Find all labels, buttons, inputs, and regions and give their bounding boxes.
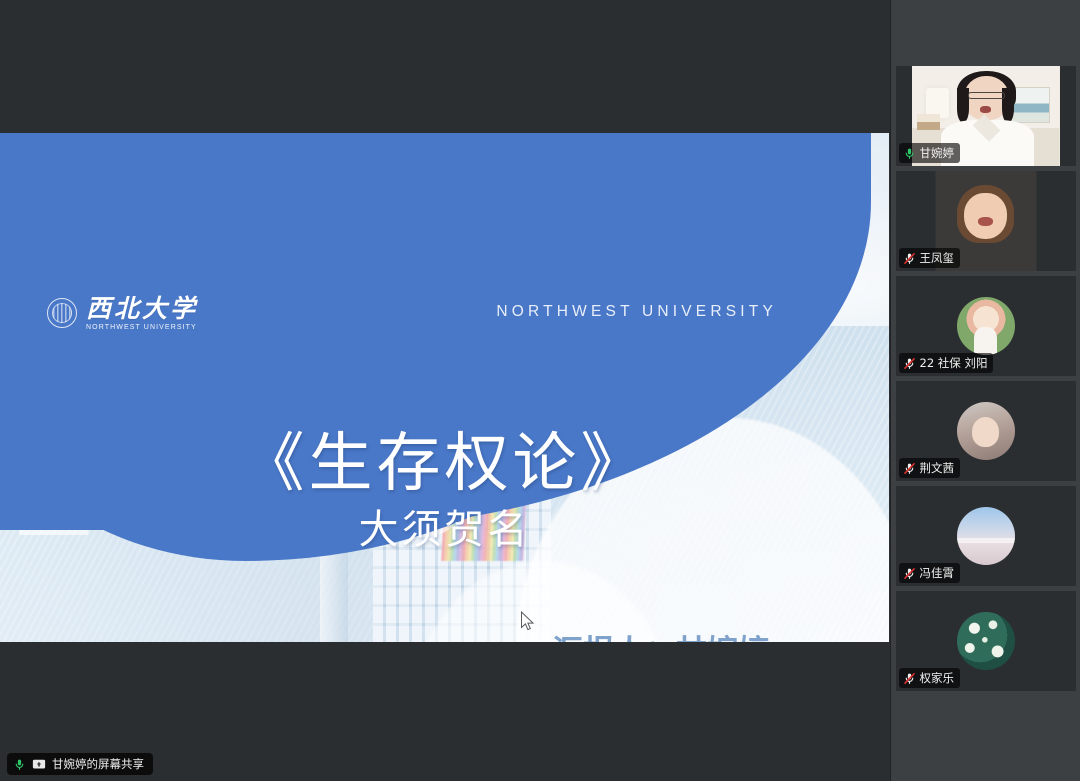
- microphone-muted-icon: [903, 567, 916, 580]
- participant-tile[interactable]: 荆文茜: [896, 381, 1076, 481]
- participant-nameplate: 冯佳霄: [899, 563, 961, 583]
- university-name-en: NORTHWEST UNIVERSITY: [86, 324, 198, 331]
- participant-sidebar[interactable]: 甘婉婷 王凤玺: [890, 0, 1080, 781]
- avatar: [957, 507, 1015, 565]
- slide-presenter-block: 汇报人：甘婉婷 专业：社会保障: [552, 630, 769, 642]
- participant-name: 甘婉婷: [920, 145, 955, 161]
- screen-share-status-bar[interactable]: 甘婉婷的屏幕共享: [7, 753, 153, 775]
- slide-header-english: NORTHWEST UNIVERSITY: [496, 303, 777, 321]
- screen-share-icon: [32, 758, 46, 771]
- university-name-cn: 西北大学: [86, 296, 198, 322]
- avatar: [957, 402, 1015, 460]
- participant-name: 22 社保 刘阳: [920, 355, 988, 371]
- participant-name: 冯佳霄: [920, 565, 955, 581]
- slide-subtitle: 大须贺名: [0, 497, 889, 555]
- participant-nameplate: 甘婉婷: [899, 143, 961, 163]
- microphone-muted-icon: [903, 672, 916, 685]
- microphone-muted-icon: [903, 357, 916, 370]
- slide-title: 《生存权论》: [0, 412, 889, 504]
- screen-share-label: 甘婉婷的屏幕共享: [52, 756, 144, 772]
- microphone-muted-icon: [903, 252, 916, 265]
- participant-tile[interactable]: 22 社保 刘阳: [896, 276, 1076, 376]
- participant-nameplate: 王凤玺: [899, 248, 961, 268]
- participant-name: 权家乐: [920, 670, 955, 686]
- participant-nameplate: 权家乐: [899, 668, 961, 688]
- slide-presenter-name: 汇报人：甘婉婷: [552, 630, 769, 642]
- participant-tile[interactable]: 甘婉婷: [896, 66, 1076, 166]
- participant-tile[interactable]: 冯佳霄: [896, 486, 1076, 586]
- microphone-on-icon: [903, 147, 916, 160]
- university-seal-icon: [47, 298, 77, 328]
- participant-nameplate: 荆文茜: [899, 458, 961, 478]
- shared-screen-stage: 2023 西北大学 NORTHWEST UNIVERSITY NORTHWEST…: [0, 0, 890, 781]
- participant-name: 荆文茜: [920, 460, 955, 476]
- university-logo-text: 西北大学 NORTHWEST UNIVERSITY: [86, 296, 198, 331]
- university-logo: 西北大学 NORTHWEST UNIVERSITY: [47, 296, 198, 331]
- avatar: [957, 297, 1015, 355]
- participant-name: 王凤玺: [920, 250, 955, 266]
- participant-nameplate: 22 社保 刘阳: [899, 353, 994, 373]
- microphone-on-icon: [13, 758, 26, 771]
- participant-tile[interactable]: 王凤玺: [896, 171, 1076, 271]
- avatar: [957, 612, 1015, 670]
- microphone-muted-icon: [903, 462, 916, 475]
- participant-tile[interactable]: 权家乐: [896, 591, 1076, 691]
- meeting-window: 2023 西北大学 NORTHWEST UNIVERSITY NORTHWEST…: [0, 0, 1080, 781]
- presentation-slide[interactable]: 2023 西北大学 NORTHWEST UNIVERSITY NORTHWEST…: [0, 133, 889, 642]
